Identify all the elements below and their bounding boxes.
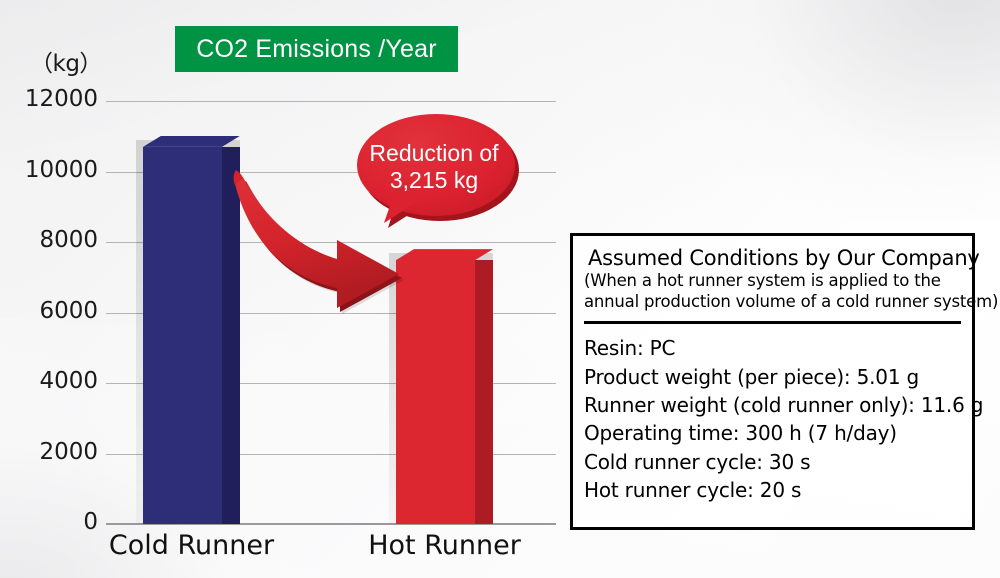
bar-front-cold-runner bbox=[143, 147, 222, 524]
y-tick-label-6000: 6000 bbox=[12, 298, 98, 324]
y-tick-label-4000: 4000 bbox=[12, 368, 98, 394]
x-label-hot-runner: Hot Runner bbox=[335, 530, 555, 561]
x-label-cold-runner: Cold Runner bbox=[82, 530, 302, 561]
chart-canvas: （kg） CO2 Emissions /Year 120001000080006… bbox=[0, 0, 1000, 578]
bar-front-hot-runner bbox=[396, 260, 475, 524]
assumed-condition-item-2: Runner weight (cold runner only): 11.6 g bbox=[584, 391, 961, 419]
y-tick-label-12000: 12000 bbox=[12, 86, 98, 112]
reduction-callout: Reduction of 3,215 kg bbox=[352, 110, 534, 230]
assumed-conditions-title: Assumed Conditions by Our Company bbox=[584, 246, 961, 270]
assumed-conditions-panel: Assumed Conditions by Our Company (When … bbox=[570, 233, 975, 530]
y-tick-label-8000: 8000 bbox=[12, 227, 98, 253]
y-tick-label-2000: 2000 bbox=[12, 439, 98, 465]
y-tick-label-10000: 10000 bbox=[12, 157, 98, 183]
assumed-condition-item-0: Resin: PC bbox=[584, 334, 961, 362]
assumed-condition-item-3: Operating time: 300 h (7 h/day) bbox=[584, 419, 961, 447]
bar-side-cold-runner bbox=[222, 147, 240, 524]
assumed-conditions-subtitle-line2: annual production volume of a cold runne… bbox=[584, 291, 961, 312]
assumed-condition-item-1: Product weight (per piece): 5.01 g bbox=[584, 363, 961, 391]
assumed-conditions-divider bbox=[584, 321, 961, 324]
assumed-conditions-subtitle-line1: (When a hot runner system is applied to … bbox=[584, 270, 961, 291]
assumed-condition-item-4: Cold runner cycle: 30 s bbox=[584, 448, 961, 476]
assumed-conditions-list: Resin: PCProduct weight (per piece): 5.0… bbox=[584, 334, 961, 504]
gridline-12000 bbox=[106, 101, 556, 102]
reduction-callout-text: Reduction of 3,215 kg bbox=[352, 140, 516, 194]
assumed-condition-item-5: Hot runner cycle: 20 s bbox=[584, 476, 961, 504]
bar-side-hot-runner bbox=[475, 260, 493, 524]
bar-cold-runner[interactable] bbox=[143, 147, 222, 524]
bar-hot-runner[interactable] bbox=[396, 260, 475, 524]
